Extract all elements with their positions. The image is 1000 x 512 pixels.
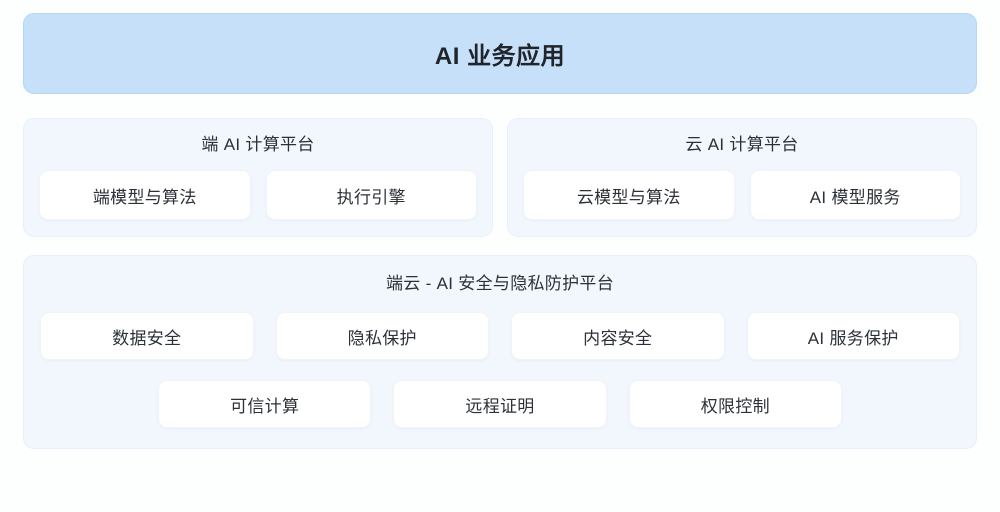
card-device-model-algorithm[interactable]: 端模型与算法 [39,170,251,220]
banner-title: AI 业务应用 [435,36,565,71]
card-label: 内容安全 [583,324,652,349]
cloud-ai-platform-card-row: 云模型与算法 AI 模型服务 [523,170,961,220]
security-card-row-primary: 数据安全 隐私保护 内容安全 AI 服务保护 [40,312,960,360]
card-ai-service-protection[interactable]: AI 服务保护 [747,312,961,360]
card-label: 隐私保护 [348,324,417,349]
architecture-diagram: AI 业务应用 端 AI 计算平台 端模型与算法 执行引擎 云 AI 计算平台 … [0,0,1000,512]
card-remote-attestation[interactable]: 远程证明 [393,380,606,428]
card-label: 远程证明 [465,392,534,417]
card-label: 可信计算 [230,392,299,417]
card-label: 云模型与算法 [577,183,681,208]
card-label: 端模型与算法 [93,183,197,208]
card-execution-engine[interactable]: 执行引擎 [266,170,478,220]
card-label: AI 服务保护 [808,324,899,349]
card-label: 数据安全 [112,324,181,349]
card-permission-control[interactable]: 权限控制 [629,380,842,428]
device-ai-platform-card-row: 端模型与算法 执行引擎 [39,170,477,220]
panel-cloud-ai-platform: 云 AI 计算平台 云模型与算法 AI 模型服务 [507,118,977,237]
security-card-row-secondary: 可信计算 远程证明 权限控制 [40,380,960,428]
card-label: 权限控制 [701,392,770,417]
card-privacy-protection[interactable]: 隐私保护 [276,312,490,360]
card-label: AI 模型服务 [810,183,901,208]
card-ai-model-service[interactable]: AI 模型服务 [750,170,962,220]
ai-business-application-banner: AI 业务应用 [23,13,977,94]
card-data-security[interactable]: 数据安全 [40,312,254,360]
panel-title-security-privacy-platform: 端云 - AI 安全与隐私防护平台 [40,272,960,296]
card-trusted-computing[interactable]: 可信计算 [158,380,371,428]
card-content-security[interactable]: 内容安全 [511,312,725,360]
panel-title-cloud-ai-platform: 云 AI 计算平台 [523,133,961,157]
platform-row: 端 AI 计算平台 端模型与算法 执行引擎 云 AI 计算平台 云模型与算法 A… [23,118,977,237]
card-cloud-model-algorithm[interactable]: 云模型与算法 [523,170,735,220]
panel-device-ai-platform: 端 AI 计算平台 端模型与算法 执行引擎 [23,118,493,237]
panel-security-privacy-platform: 端云 - AI 安全与隐私防护平台 数据安全 隐私保护 内容安全 AI 服务保护… [23,255,977,449]
card-label: 执行引擎 [337,183,406,208]
panel-title-device-ai-platform: 端 AI 计算平台 [39,133,477,157]
